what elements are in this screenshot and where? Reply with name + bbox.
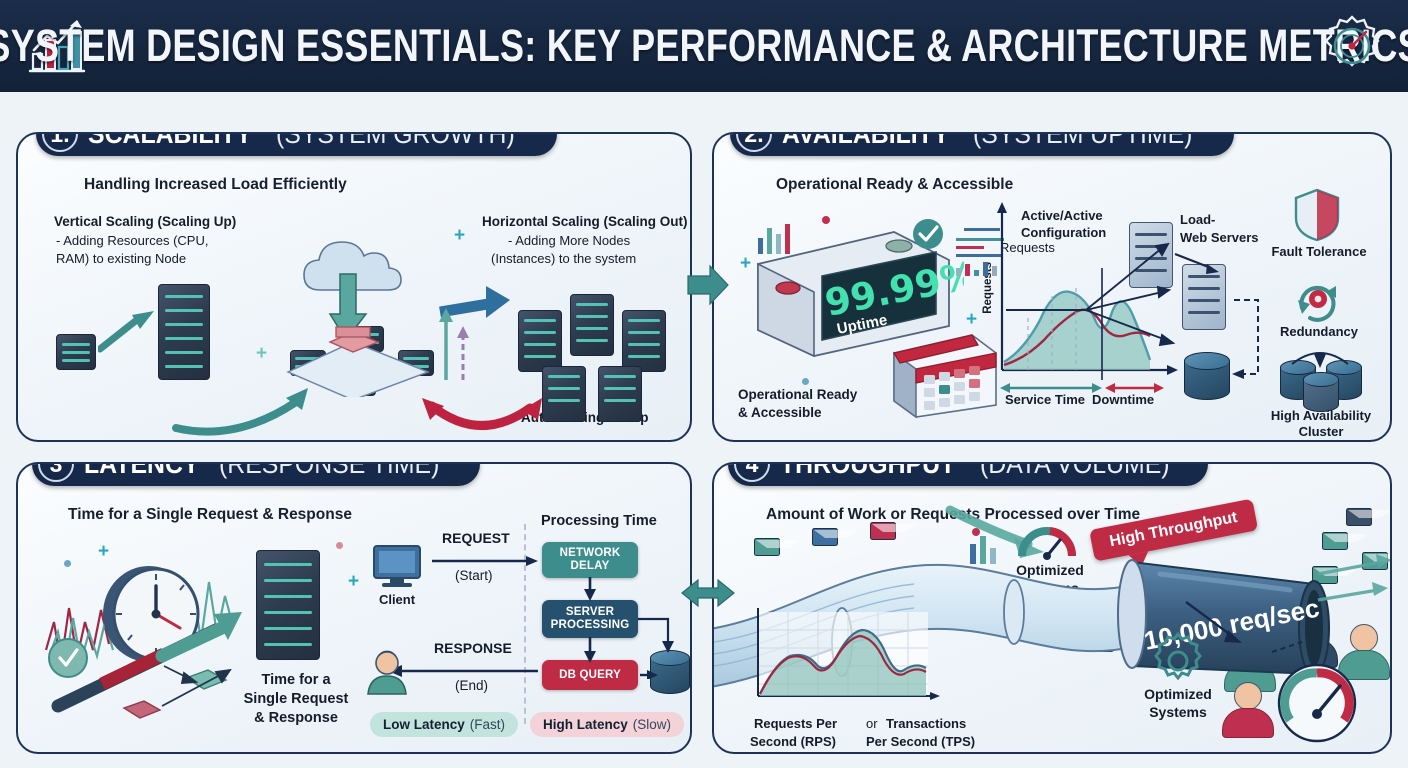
- panel-4-title-pill: 4 THROUGHPUT (DATA VOLUME): [728, 462, 1208, 486]
- user-avatar-icon: [1222, 708, 1274, 738]
- redundancy-label: Redundancy: [1264, 324, 1374, 339]
- horizontal-scaling-title: Horizontal Scaling (Scaling Out): [482, 214, 688, 229]
- server-to-db-arrow: [636, 609, 692, 679]
- response-label: RESPONSE: [434, 640, 512, 656]
- network-delay-text: NETWORK DELAY: [542, 547, 638, 573]
- response-sub-label: (End): [455, 678, 488, 693]
- cluster-server-icon: [622, 310, 666, 372]
- panel-2-number: 2.: [736, 132, 772, 152]
- low-latency-normal: (Fast): [470, 717, 505, 732]
- horizontal-scaling-line2: - Adding More Nodes: [508, 233, 630, 248]
- vertical-scaling-title: Vertical Scaling (Scaling Up): [54, 214, 236, 229]
- dot-accent: [802, 378, 809, 385]
- cluster-server-icon: [542, 366, 586, 422]
- panel-scalability: 1. SCALABILITY (SYSTEM GROWTH) Handling …: [16, 132, 692, 442]
- user-avatar-icon: [364, 648, 410, 698]
- vertical-scaling-arrow: [98, 309, 160, 355]
- panel-4-subtitle-paren: (DATA VOLUME): [980, 462, 1170, 480]
- page-title: SYSTEM DESIGN ESSENTIALS: KEY PERFORMANC…: [0, 20, 1408, 72]
- flow-arrow-down: [580, 637, 600, 665]
- gear-speedometer-icon: [1318, 12, 1386, 80]
- plus-accent-icon: +: [256, 344, 267, 363]
- shield-icon: [1290, 186, 1344, 244]
- panel-2-subtitle: Operational Ready & Accessible: [776, 176, 1013, 194]
- low-latency-bold: Low Latency: [383, 717, 465, 732]
- vertical-scaling-line2: - Adding Resources (CPU,: [56, 233, 208, 248]
- low-latency-badge: Low Latency (Fast): [370, 712, 518, 737]
- speedometer-icon: [1276, 662, 1358, 744]
- panel-availability: 2. AVAILABILITY (SYSTEM UPTIME) Operatio…: [712, 132, 1392, 442]
- panel-3-number: 3: [38, 462, 74, 482]
- panel-1-subtitle-paren: (SYSTEM GROWTH): [276, 132, 515, 150]
- network-delay-box[interactable]: NETWORK DELAY: [542, 542, 638, 578]
- cloud-scaling-art: [268, 222, 458, 397]
- server-processing-text: SERVER PROCESSING: [542, 606, 638, 632]
- cluster-down-arrow: [1280, 340, 1360, 370]
- vertical-scaling-line3: RAM) to existing Node: [56, 251, 186, 266]
- throughput-chart: [744, 604, 954, 722]
- panel-latency: 3 LATENCY (RESPONSE TIME) Time for a Sin…: [16, 462, 692, 754]
- page-header: SYSTEM DESIGN ESSENTIALS: KEY PERFORMANC…: [0, 0, 1408, 92]
- tps-line2: Per Second (TPS): [866, 734, 975, 749]
- high-latency-bold: High Latency: [543, 717, 628, 732]
- small-server-icon: [56, 334, 96, 370]
- cluster-server-icon: [598, 366, 642, 422]
- ha-cluster-line1: High Availability: [1260, 408, 1382, 423]
- server-link-arrow: [1173, 252, 1233, 276]
- flow-arrow-down: [580, 577, 600, 603]
- ha-cluster-line2: Cluster: [1260, 424, 1382, 439]
- high-latency-normal: (Slow): [633, 717, 671, 732]
- request-sub-label: (Start): [455, 568, 493, 583]
- pipe-to-users-arrow: [1184, 598, 1254, 654]
- panel-1-title-pill: 1. SCALABILITY (SYSTEM GROWTH): [36, 132, 557, 156]
- panel-4-title: THROUGHPUT: [780, 462, 955, 480]
- client-label: Client: [364, 592, 430, 607]
- db-query-text: DB QUERY: [559, 669, 621, 682]
- connector-arrow-1-to-2: [686, 262, 730, 308]
- calendar-icon: [876, 309, 1006, 424]
- latency-clock-art: [36, 530, 356, 730]
- request-arrow: [430, 552, 542, 570]
- panel-2-title-pill: 2. AVAILABILITY (SYSTEM UPTIME): [730, 132, 1234, 156]
- cluster-server-icon: [570, 294, 614, 356]
- user-link-line: [1270, 640, 1306, 656]
- tall-server-icon: [158, 284, 210, 380]
- operational-ready-line2: & Accessible: [738, 405, 822, 420]
- panel-1-title: SCALABILITY: [88, 132, 252, 150]
- redundancy-refresh-icon: [1292, 274, 1344, 324]
- panel-1-number: 1.: [42, 132, 78, 152]
- high-latency-badge: High Latency (Slow): [530, 712, 684, 737]
- processing-time-label: Processing Time: [541, 513, 657, 529]
- panel-3-subtitle-paren: (RESPONSE TIME): [219, 462, 439, 480]
- panel-1-subtitle: Handling Increased Load Efficiently: [84, 176, 347, 194]
- database-cluster-icon: [1303, 372, 1339, 412]
- rps-line2: Second (RPS): [750, 734, 836, 749]
- fault-tolerance-label: Fault Tolerance: [1264, 244, 1374, 259]
- availability-chart: [990, 200, 1200, 420]
- server-processing-box[interactable]: SERVER PROCESSING: [542, 600, 638, 638]
- panel-throughput: 4 THROUGHPUT (DATA VOLUME) Amount of Wor…: [712, 462, 1392, 754]
- db-replication-link: [1230, 294, 1270, 390]
- panel-2-subtitle-paren: (SYSTEM UPTIME): [973, 132, 1192, 150]
- mini-bar-chart-icon: [756, 222, 800, 256]
- panel-4-number: 4: [734, 462, 770, 482]
- gauge-icon: [1016, 520, 1078, 560]
- panel-3-subtitle: Time for a Single Request & Response: [68, 506, 352, 524]
- scale-feedback-arrow: [168, 384, 318, 436]
- mini-bar-chart-icon: [966, 526, 1008, 570]
- panel-3-title: LATENCY: [84, 462, 199, 480]
- operational-ready-line1: Operational Ready: [738, 387, 857, 402]
- panel-3-title-pill: 3 LATENCY (RESPONSE TIME): [32, 462, 480, 486]
- horizontal-scaling-line3: (Instances) to the system: [491, 251, 636, 266]
- request-label: REQUEST: [442, 530, 510, 546]
- panel-2-title: AVAILABILITY: [782, 132, 949, 150]
- check-circle-icon: [910, 216, 946, 252]
- cluster-server-icon: [518, 310, 562, 372]
- client-monitor-icon: [370, 542, 424, 590]
- optimized-systems-bottom-line2: Systems: [1122, 704, 1234, 720]
- auto-scaling-arrow: [418, 396, 548, 438]
- up-arrow-accents: [438, 302, 474, 382]
